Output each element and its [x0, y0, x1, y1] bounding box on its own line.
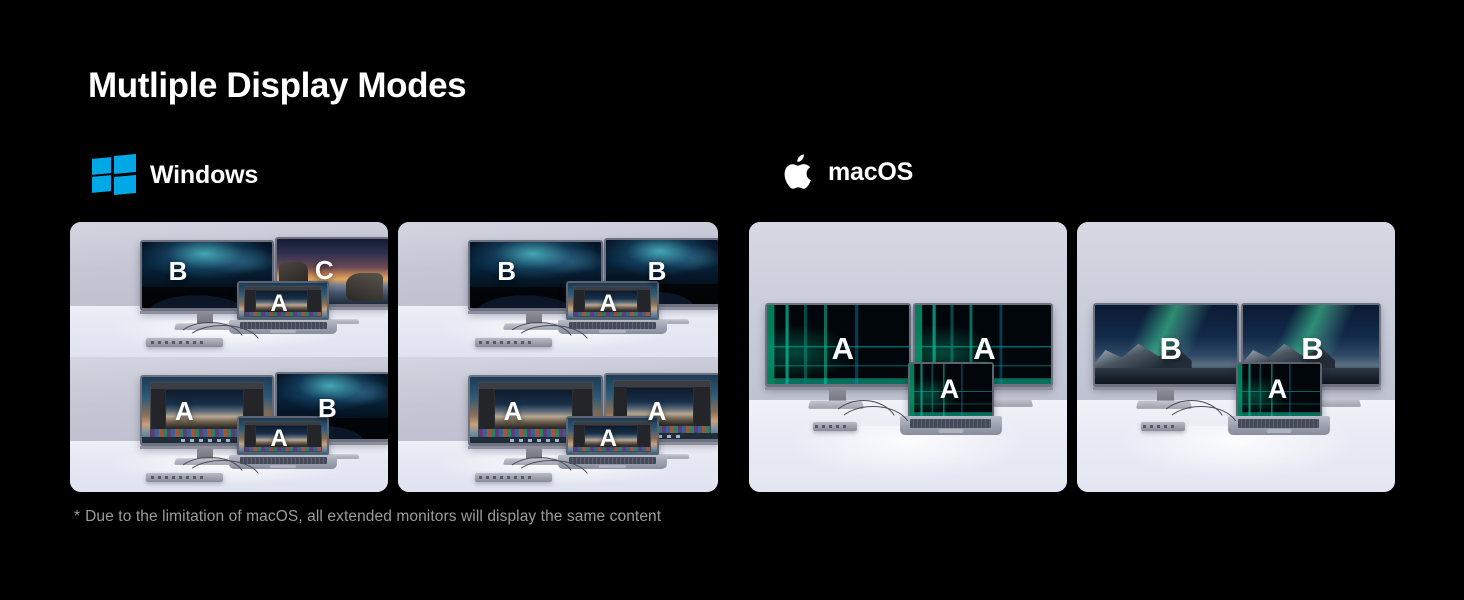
display-tag: A [504, 398, 523, 424]
display-tag: B [648, 258, 667, 284]
apple-logo-icon [780, 152, 814, 192]
scene-windows-duplicate-bb: B B A [398, 222, 718, 357]
platform-header-macos: macOS [780, 152, 913, 192]
display-tag: A [940, 376, 960, 403]
platform-label-macos: macOS [828, 158, 913, 187]
display-tag: B [169, 258, 188, 284]
platform-label-windows: Windows [150, 161, 258, 190]
display-tag: A [600, 427, 617, 451]
platform-header-windows: Windows [92, 155, 258, 195]
display-tag: A [1268, 376, 1288, 403]
windows-logo-icon [92, 155, 136, 195]
footnote-asterisk: * [74, 508, 80, 525]
display-mode-card-windows-extend[interactable]: B C A [70, 222, 388, 492]
footnote: *Due to the limitation of macOS, all ext… [74, 508, 661, 526]
display-tag: B [1301, 333, 1323, 364]
scene-windows-mirror-aa: A A A [398, 357, 718, 492]
display-tag: B [318, 395, 337, 421]
scene-macos-extend: B B A [1077, 222, 1395, 492]
display-tag: A [600, 292, 617, 316]
scene-macos-mirror: A A A [749, 222, 1067, 492]
display-tag: A [648, 398, 667, 424]
display-mode-card-macos-mirror[interactable]: A A A [749, 222, 1067, 492]
display-tag: B [1160, 333, 1182, 364]
display-tag: C [315, 257, 334, 283]
display-tag: A [270, 292, 287, 316]
display-tag: A [832, 333, 854, 364]
display-mode-card-macos-extend[interactable]: B B A [1077, 222, 1395, 492]
display-tag: A [175, 398, 194, 424]
scene-windows-extend-bc: B C A [70, 222, 388, 357]
display-modes-infographic: Mutliple Display Modes Windows macOS [0, 0, 1464, 600]
display-tag: A [973, 333, 995, 364]
display-mode-card-windows-duplicate[interactable]: B B A [398, 222, 718, 492]
display-tag: A [270, 427, 287, 451]
display-tag: B [497, 258, 516, 284]
page-title: Mutliple Display Modes [88, 64, 466, 108]
scene-windows-extend-ab: A B A [70, 357, 388, 492]
footnote-text: Due to the limitation of macOS, all exte… [85, 508, 661, 525]
